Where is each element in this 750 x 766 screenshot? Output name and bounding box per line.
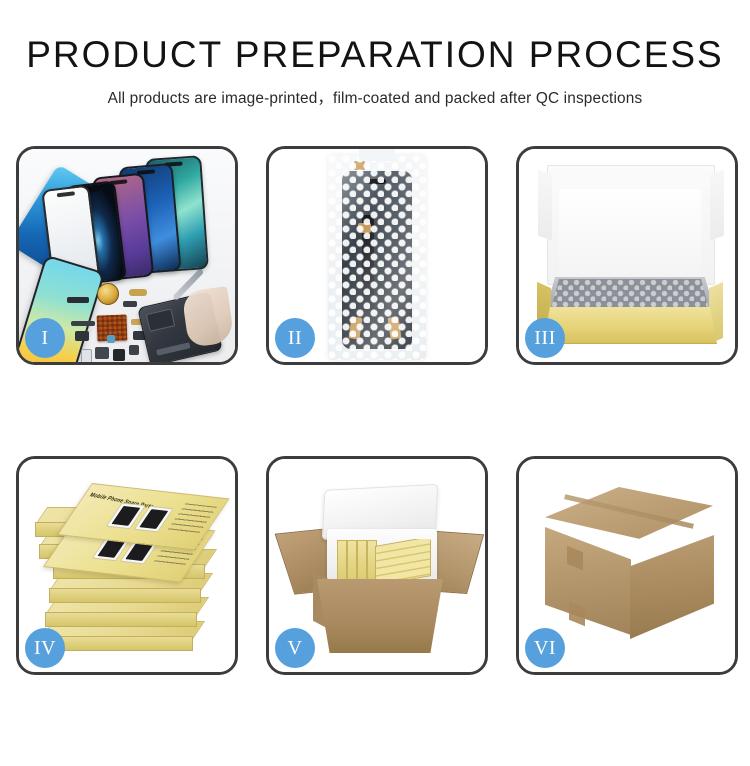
packed-box-group-tilted <box>375 539 431 581</box>
sealed-carton-graphic <box>539 487 721 647</box>
page-header: PRODUCT PREPARATION PROCESS All products… <box>0 36 750 108</box>
flex-cable-graphic <box>71 321 95 326</box>
small-component-graphic <box>113 349 125 361</box>
step-panel-5[interactable]: V <box>266 456 488 675</box>
step-badge-5: V <box>275 628 315 668</box>
step-panel-3[interactable]: III <box>516 146 738 365</box>
component-bar-graphic <box>67 297 89 303</box>
process-row-1: I <box>0 146 750 366</box>
step-badge-2: II <box>275 318 315 358</box>
process-row-2: Mobile Phone Spare Parts Mobile Phone Sp… <box>0 456 750 676</box>
step-badge-4: IV <box>25 628 65 668</box>
housing-detail <box>146 308 175 331</box>
box-front <box>49 588 201 603</box>
step-panel-6[interactable]: VI <box>516 456 738 675</box>
product-preparation-process-page: PRODUCT PREPARATION PROCESS All products… <box>0 0 750 750</box>
carton-front-face <box>545 527 631 635</box>
page-subtitle: All products are image-printed，film-coat… <box>0 86 750 108</box>
packed-box-bar <box>337 540 347 581</box>
small-component-graphic <box>129 345 139 355</box>
housing-detail <box>156 342 190 355</box>
carton-front-panel <box>317 579 443 653</box>
step-panel-4[interactable]: Mobile Phone Spare Parts Mobile Phone Sp… <box>16 456 238 675</box>
phone-print-graphic <box>111 506 140 526</box>
box-front <box>45 612 197 627</box>
process-steps-grid: I <box>0 146 750 766</box>
bag-seal-graphic <box>359 149 395 161</box>
component-bar-graphic <box>129 289 147 296</box>
packed-boxes-graphic <box>335 539 431 581</box>
open-kraft-box-graphic <box>537 165 723 345</box>
step-panel-2[interactable]: II <box>266 146 488 365</box>
step-badge-1: I <box>25 318 65 358</box>
packed-box-bar <box>347 540 357 581</box>
flex-cable-graphic <box>75 331 89 341</box>
open-carton-graphic <box>287 481 473 657</box>
small-component-graphic <box>95 347 109 359</box>
small-component-graphic <box>81 349 92 362</box>
plastic-sheen-overlay <box>328 155 426 360</box>
foam-padding-graphic <box>559 189 701 277</box>
packed-box-bar <box>357 540 367 581</box>
carton-side-face <box>630 535 714 639</box>
step-badge-3: III <box>525 318 565 358</box>
step-panel-1[interactable]: I <box>16 146 238 365</box>
bubble-wrapped-item-graphic <box>551 279 709 309</box>
small-component-graphic <box>107 335 115 343</box>
bubble-wrap-bag-graphic <box>328 155 426 360</box>
page-title: PRODUCT PREPARATION PROCESS <box>0 36 750 75</box>
step-badge-6: VI <box>525 628 565 668</box>
component-bar-graphic <box>123 301 137 307</box>
notch-icon <box>57 191 75 197</box>
box-front-panel <box>543 307 717 344</box>
speaker-component-graphic <box>97 283 119 305</box>
phone-print-graphic <box>139 509 168 529</box>
